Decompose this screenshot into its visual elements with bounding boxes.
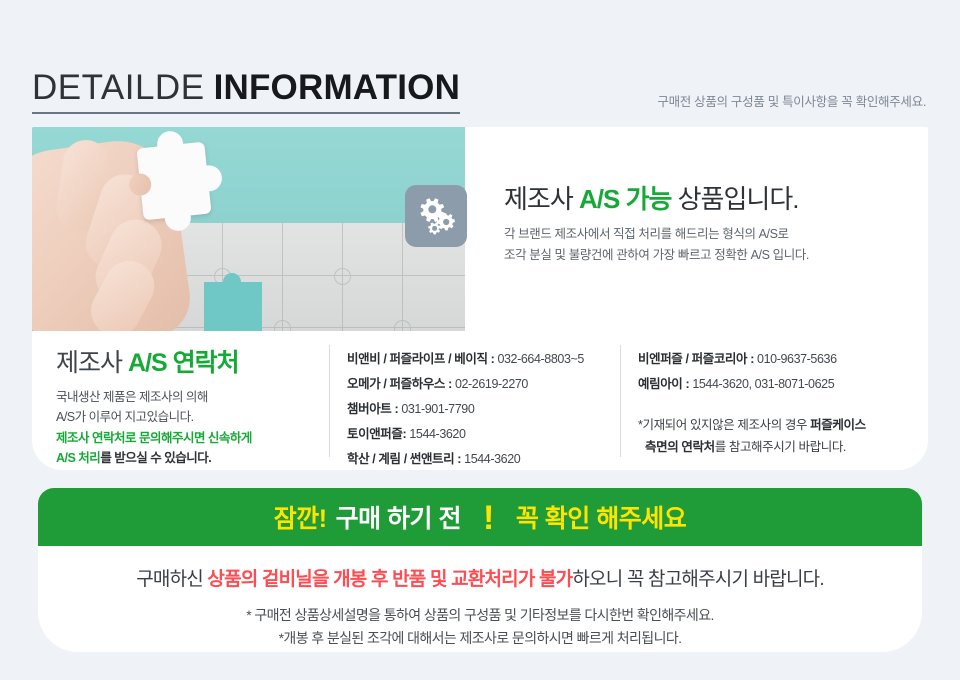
contact-number[interactable]: 1544-3620 <box>464 452 520 466</box>
warning-main-suffix: 하오니 꼭 참고해주시기 바랍니다. <box>572 569 823 590</box>
contact-row: 비앤비 / 퍼즐라이프 / 베이직 : 032-664-8803~5 <box>347 347 609 372</box>
exclamation-icon: ! <box>483 501 494 535</box>
contact-row: 챔버아트 : 031-901-7790 <box>347 397 609 422</box>
contact-intro-line-2: A/S가 이루어 지고있습니다. <box>56 410 194 424</box>
as-title-prefix: 제조사 <box>504 184 573 214</box>
notice-banner: 잠깐! 구매 하기 전 ! 꼭 확인 해주세요 <box>38 488 922 546</box>
contact-intro-text: 국내생산 제품은 제조사의 의해 A/S가 이루어 지고있습니다. 제조사 연락… <box>56 387 316 468</box>
header-note: 구매전 상품의 구성품 및 특이사항을 꼭 확인해주세요. <box>657 91 926 110</box>
as-title-highlight: A/S 가능 <box>579 184 671 214</box>
contact-row: 오메가 / 퍼즐하우스 : 02-2619-2270 <box>347 372 609 397</box>
banner-attention-label: 잠깐! <box>274 499 327 535</box>
page-header: DETAILDEINFORMATION 구매전 상품의 구성품 및 특이사항을 … <box>32 68 928 112</box>
as-description: 각 브랜드 제조사에서 직접 처리를 해드리는 형식의 A/S로 조각 분실 및… <box>504 224 914 265</box>
banner-confirm-label: 꼭 확인 해주세요 <box>516 499 686 535</box>
as-description-line-1: 각 브랜드 제조사에서 직접 처리를 해드리는 형식의 A/S로 <box>504 224 914 245</box>
contact-heading-prefix: 제조사 <box>56 349 122 377</box>
as-title-suffix: 상품입니다. <box>678 184 799 214</box>
contact-intro-line-3: 제조사 연락처로 문의해주시면 신속하게 <box>56 431 252 445</box>
as-title: 제조사 A/S 가능 상품입니다. <box>504 185 914 215</box>
held-puzzle-piece <box>136 142 211 221</box>
product-detail-page: DETAILDEINFORMATION 구매전 상품의 구성품 및 특이사항을 … <box>0 0 960 680</box>
contact-brand: 토이앤퍼즐: <box>347 427 406 441</box>
column-divider-1 <box>329 345 330 457</box>
as-availability-block: 제조사 A/S 가능 상품입니다. 각 브랜드 제조사에서 직접 처리를 해드리… <box>504 185 914 265</box>
contact-footnote-line-2-text: 를 참고해주시기 바랍니다. <box>715 440 846 454</box>
contact-number[interactable]: 032-664-8803~5 <box>497 352 584 366</box>
contact-footnote-line-1-text: *기재되어 있지않은 제조사의 경우 <box>638 418 810 432</box>
contact-footnote: *기재되어 있지않은 제조사의 경우 퍼즐케이스 측면의 연락처를 참고해주시기… <box>638 415 906 459</box>
contact-intro-line-1: 국내생산 제품은 제조사의 의해 <box>56 390 208 404</box>
contact-section: 제조사 A/S 연락처 국내생산 제품은 제조사의 의해 A/S가 이루어 지고… <box>32 331 928 470</box>
contact-number[interactable]: 010-9637-5636 <box>757 352 837 366</box>
warning-main-text: 구매하신 상품의 겉비닐을 개봉 후 반품 및 교환처리가 불가하오니 꼭 참고… <box>38 546 922 591</box>
contact-brand: 오메가 / 퍼즐하우스 : <box>347 377 452 391</box>
contact-row: 토이앤퍼즐: 1544-3620 <box>347 422 609 447</box>
contact-row: 비엔퍼즐 / 퍼즐코리아 : 010-9637-5636 <box>638 347 906 372</box>
contact-list-right: 비엔퍼즐 / 퍼즐코리아 : 010-9637-5636 예림아이 : 1544… <box>638 347 906 459</box>
banner-main-label: 구매 하기 전 <box>336 499 461 535</box>
contact-number[interactable]: 02-2619-2270 <box>455 377 528 391</box>
contact-list-middle: 비앤비 / 퍼즐라이프 / 베이직 : 032-664-8803~5 오메가 /… <box>347 347 609 470</box>
contact-heading: 제조사 A/S 연락처 <box>56 343 316 379</box>
warning-main-prefix: 구매하신 <box>136 569 207 590</box>
contact-brand: 학산 / 계림 / 썬앤트리 : <box>347 452 461 466</box>
contact-brand: 비엔퍼즐 / 퍼즐코리아 : <box>638 352 754 366</box>
warning-sub-text: * 구매전 상품상세설명을 통하여 상품의 구성품 및 기타정보를 다시한번 확… <box>38 604 922 650</box>
contact-intro-line-4-emphasis: A/S 처리 <box>56 451 100 465</box>
contact-number[interactable]: 031-901-7790 <box>401 402 474 416</box>
contact-row: 예림아이 : 1544-3620, 031-8071-0625 <box>638 372 906 397</box>
warning-sub-line-2: *개봉 후 분실된 조각에 대해서는 제조사로 문의하시면 빠르게 처리됩니다. <box>279 630 682 646</box>
contact-number[interactable]: 1544-3620, 031-8071-0625 <box>692 377 834 391</box>
contact-number[interactable]: 1544-3620 <box>409 427 465 441</box>
warning-main-highlight: 상품의 겉비닐을 개봉 후 반품 및 교환처리가 불가 <box>207 569 572 590</box>
info-card: 제조사 A/S 가능 상품입니다. 각 브랜드 제조사에서 직접 처리를 해드리… <box>32 127 928 470</box>
contact-heading-highlight: A/S 연락처 <box>128 349 239 377</box>
as-description-line-2: 조각 분실 및 불량건에 관하여 가장 빠르고 정확한 A/S 입니다. <box>504 245 914 266</box>
contact-brand: 챔버아트 : <box>347 402 398 416</box>
contact-brand: 비앤비 / 퍼즐라이프 / 베이직 : <box>347 352 494 366</box>
warning-sub-line-1: * 구매전 상품상세설명을 통하여 상품의 구성품 및 기타정보를 다시한번 확… <box>246 607 714 623</box>
contact-footnote-emphasis-1: 퍼즐케이스 <box>810 418 866 432</box>
notice-banner-text: 잠깐! 구매 하기 전 ! 꼭 확인 해주세요 <box>274 499 686 535</box>
contact-intro-column: 제조사 A/S 연락처 국내생산 제품은 제조사의 의해 A/S가 이루어 지고… <box>56 343 316 468</box>
contact-row: 학산 / 계림 / 썬앤트리 : 1544-3620 <box>347 447 609 470</box>
gears-icon <box>405 185 467 247</box>
page-title: DETAILDEINFORMATION <box>32 68 460 114</box>
warning-panel: 구매하신 상품의 겉비닐을 개봉 후 반품 및 교환처리가 불가하오니 꼭 참고… <box>38 546 922 652</box>
column-divider-2 <box>620 345 621 457</box>
page-title-bold: INFORMATION <box>214 68 461 107</box>
contact-intro-line-4-rest: 를 받으실 수 있습니다. <box>100 451 211 465</box>
contact-brand: 예림아이 : <box>638 377 689 391</box>
puzzle-photo <box>32 127 465 331</box>
page-title-light: DETAILDE <box>32 68 205 107</box>
contact-footnote-emphasis-2: 측면의 연락처 <box>645 440 715 454</box>
missing-puzzle-slot <box>204 282 262 331</box>
